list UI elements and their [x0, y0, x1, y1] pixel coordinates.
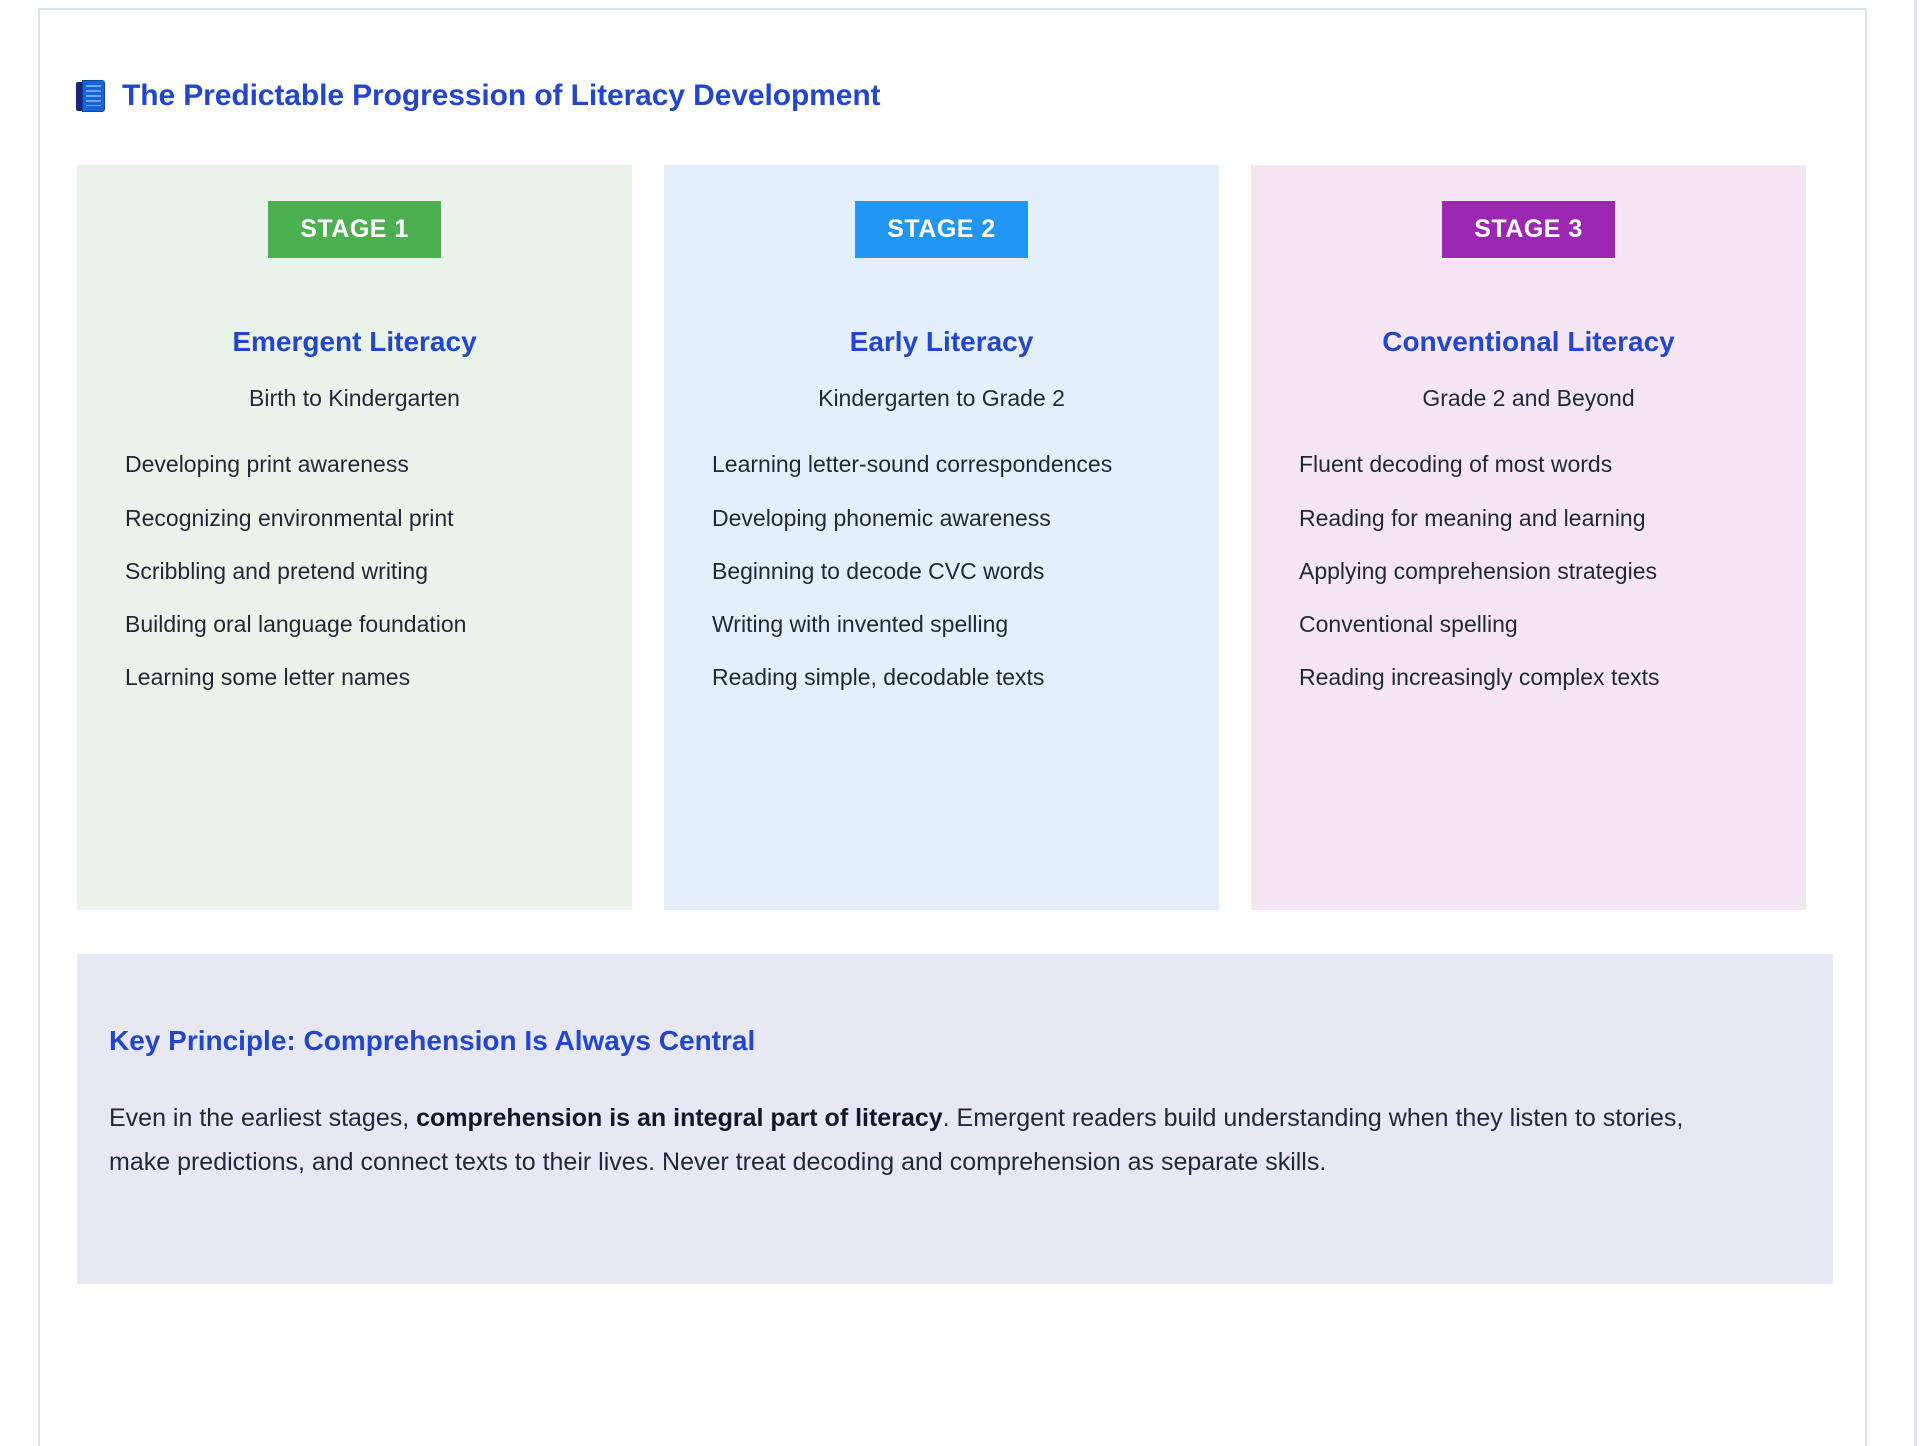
stages-row: STAGE 1 Emergent Literacy Birth to Kinde…: [77, 165, 1833, 910]
list-item: Fluent decoding of most words: [1299, 446, 1770, 483]
stage-card-2: STAGE 2 Early Literacy Kindergarten to G…: [664, 165, 1219, 910]
blue-book-icon: [76, 79, 106, 113]
stage-badge-wrap-3: STAGE 3: [1287, 201, 1770, 258]
list-item: Reading increasingly complex texts: [1299, 659, 1770, 696]
list-item: Developing print awareness: [125, 446, 596, 483]
stage-card-1: STAGE 1 Emergent Literacy Birth to Kinde…: [77, 165, 632, 910]
page-title: The Predictable Progression of Literacy …: [122, 78, 880, 114]
key-principle-body: Even in the earliest stages, comprehensi…: [109, 1096, 1729, 1185]
list-item: Applying comprehension strategies: [1299, 553, 1770, 590]
key-principle-body-part1: Even in the earliest stages,: [109, 1104, 416, 1132]
list-item: Conventional spelling: [1299, 606, 1770, 643]
stage-name-1: Emergent Literacy: [113, 325, 596, 359]
stage-badge-wrap-2: STAGE 2: [700, 201, 1183, 258]
section-header: The Predictable Progression of Literacy …: [76, 78, 880, 114]
list-item: Writing with invented spelling: [712, 606, 1183, 643]
key-principle-body-bold: comprehension is an integral part of lit…: [416, 1104, 943, 1132]
list-item: Reading for meaning and learning: [1299, 500, 1770, 537]
stage-list-2: Learning letter-sound correspondences De…: [700, 446, 1183, 696]
list-item: Learning letter-sound correspondences: [712, 446, 1183, 483]
stage-badge-3: STAGE 3: [1442, 201, 1615, 258]
stage-range-1: Birth to Kindergarten: [113, 384, 596, 414]
stage-badge-1: STAGE 1: [268, 201, 441, 258]
viewport-frame: The Predictable Progression of Literacy …: [0, 0, 1917, 1446]
stage-list-1: Developing print awareness Recognizing e…: [113, 446, 596, 696]
stage-list-3: Fluent decoding of most words Reading fo…: [1287, 446, 1770, 696]
list-item: Learning some letter names: [125, 659, 596, 696]
stage-name-2: Early Literacy: [700, 325, 1183, 359]
stage-badge-wrap-1: STAGE 1: [113, 201, 596, 258]
list-item: Recognizing environmental print: [125, 500, 596, 537]
key-principle-callout: Key Principle: Comprehension Is Always C…: [77, 954, 1833, 1284]
stage-range-3: Grade 2 and Beyond: [1287, 384, 1770, 414]
content-card: The Predictable Progression of Literacy …: [38, 8, 1867, 1446]
stage-name-3: Conventional Literacy: [1287, 325, 1770, 359]
key-principle-heading: Key Principle: Comprehension Is Always C…: [109, 1024, 1801, 1058]
list-item: Building oral language foundation: [125, 606, 596, 643]
list-item: Reading simple, decodable texts: [712, 659, 1183, 696]
stage-badge-2: STAGE 2: [855, 201, 1028, 258]
stage-range-2: Kindergarten to Grade 2: [700, 384, 1183, 414]
page-root: The Predictable Progression of Literacy …: [0, 0, 1920, 1446]
list-item: Beginning to decode CVC words: [712, 553, 1183, 590]
stage-card-3: STAGE 3 Conventional Literacy Grade 2 an…: [1251, 165, 1806, 910]
list-item: Scribbling and pretend writing: [125, 553, 596, 590]
list-item: Developing phonemic awareness: [712, 500, 1183, 537]
